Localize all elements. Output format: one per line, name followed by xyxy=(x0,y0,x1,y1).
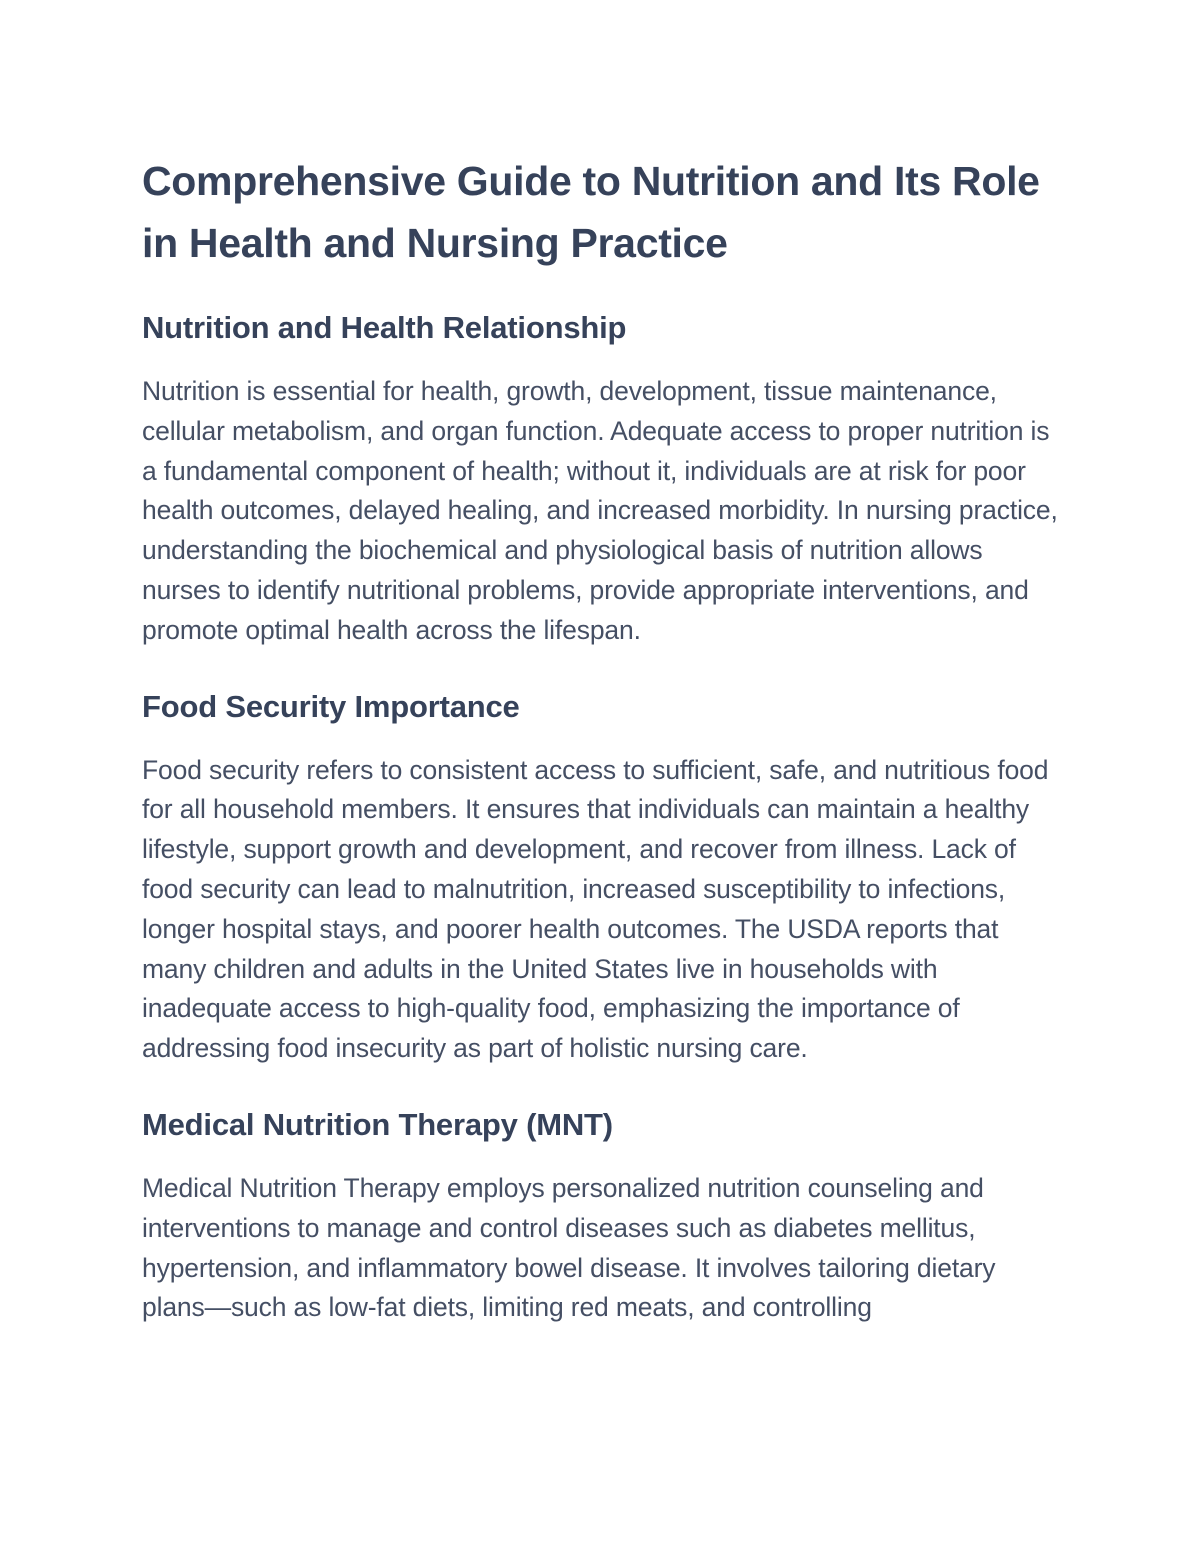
section-heading-medical-nutrition-therapy: Medical Nutrition Therapy (MNT) xyxy=(142,1103,1062,1147)
section-paragraph-nutrition-and-health-relationship: Nutrition is essential for health, growt… xyxy=(142,372,1062,651)
document-page: Comprehensive Guide to Nutrition and Its… xyxy=(0,0,1200,1553)
section-paragraph-food-security-importance: Food security refers to consistent acces… xyxy=(142,751,1062,1069)
section-heading-food-security-importance: Food Security Importance xyxy=(142,685,1062,729)
section-medical-nutrition-therapy: Medical Nutrition Therapy (MNT) Medical … xyxy=(142,1103,1062,1328)
section-heading-nutrition-and-health-relationship: Nutrition and Health Relationship xyxy=(142,306,1062,350)
section-paragraph-medical-nutrition-therapy: Medical Nutrition Therapy employs person… xyxy=(142,1169,1062,1328)
page-title: Comprehensive Guide to Nutrition and Its… xyxy=(142,150,1042,274)
section-food-security-importance: Food Security Importance Food security r… xyxy=(142,685,1062,1069)
section-nutrition-and-health-relationship: Nutrition and Health Relationship Nutrit… xyxy=(142,306,1062,651)
document-body: Comprehensive Guide to Nutrition and Its… xyxy=(142,150,1062,1328)
